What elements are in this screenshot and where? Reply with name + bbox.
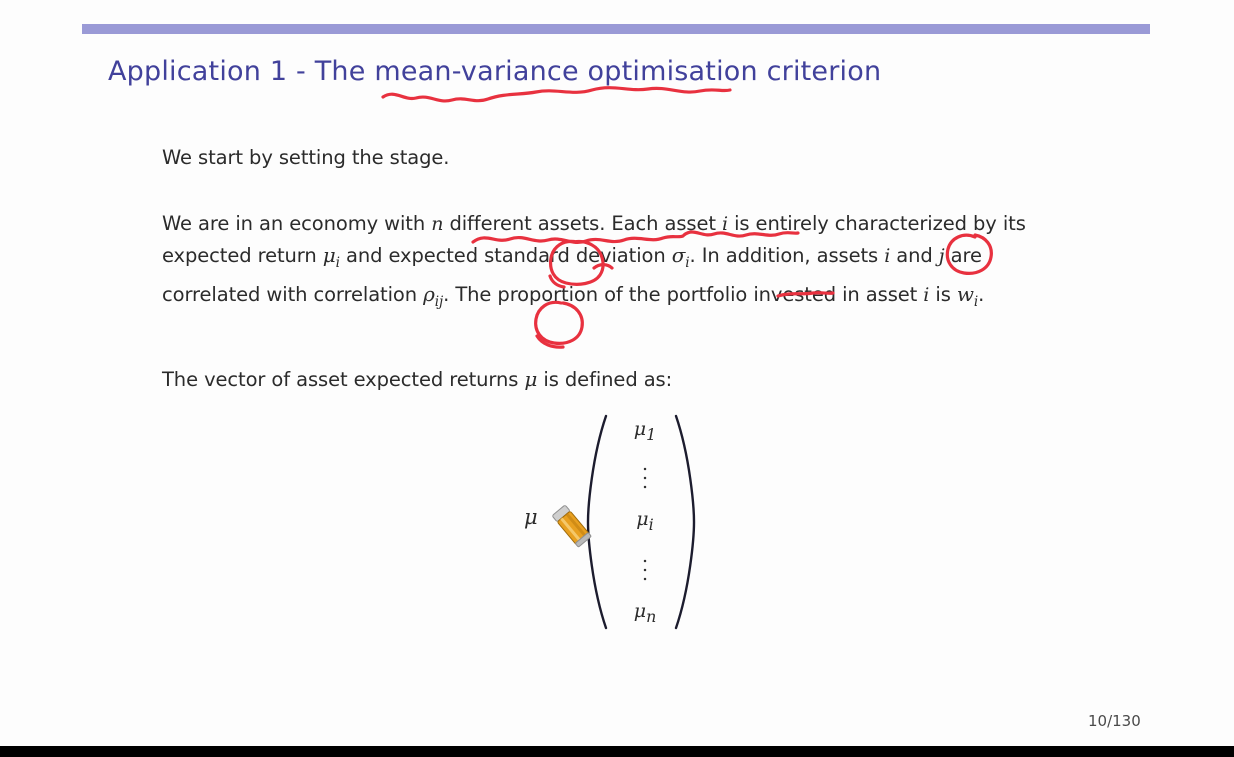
vector-vdots-lower: ... [590,552,700,579]
text-seg-1: We are in an economy with [162,212,431,235]
vector-entry-first-base: μ [634,418,646,440]
text-seg-4: and expected standard deviation [340,244,672,267]
text-seg-10: . [978,283,984,306]
math-sym-rho-ij-base: ρ [423,282,435,306]
math-sym-mu-i-base: μ [323,243,336,267]
math-sym-rho-ij-sub: ij [435,294,443,310]
text-seg-8: . The proportion of the portfolio invest… [443,283,923,306]
vector-entry-last-base: μ [634,600,646,622]
vector-entry-i: μi [590,508,700,534]
math-sym-rho-ij: ρij [423,282,443,306]
mu-vector-equation: μ μ1 ... μi ... μn [500,412,740,637]
math-sym-mu-i: μi [323,243,340,267]
slide-canvas: Application 1 - The mean-variance optimi… [0,0,1234,757]
pencil-cursor [543,498,599,554]
vector-entry-first: μ1 [590,418,700,444]
text-seg-9: is [929,283,957,306]
squiggle-under-title-phrase [383,88,730,101]
math-sym-sigma-i-base: σ [672,243,686,267]
text-seg-2: different assets. Each asset [443,212,722,235]
header-rule [82,24,1150,34]
paragraph-setup: We are in an economy with n different as… [162,208,1052,318]
bottom-band [0,746,1234,757]
text-seg-6: and [890,244,939,267]
slide-title: Application 1 - The mean-variance optimi… [108,56,881,87]
vector-entry-last: μn [590,600,700,626]
mu-vector-body: μ1 ... μi ... μn [590,412,700,632]
text-seg-5: . In addition, assets [690,244,885,267]
page-number: 10/130 [1088,712,1141,730]
paragraph-intro-text: We start by setting the stage. [162,146,449,169]
vector-entry-i-sub: i [649,515,654,534]
math-sym-sigma-i: σi [672,243,690,267]
math-sym-w-i-base: w [957,282,974,306]
paragraph-intro: We start by setting the stage. [162,142,1062,173]
paragraph-vector-intro: The vector of asset expected returns μ i… [162,364,1062,395]
vector-vdots-upper: ... [590,460,700,487]
math-sym-mu: μ [524,367,537,391]
vector-intro-seg-2: is defined as: [537,368,672,391]
circle-around-w-i-tail [537,336,563,347]
vector-entry-i-base: μ [636,508,648,530]
math-var-n: n [431,213,443,235]
vector-entry-last-sub: n [646,607,656,626]
vector-entry-first-sub: 1 [646,425,656,444]
math-sym-w-i: wi [957,282,978,306]
mu-vector-label: μ [524,505,538,529]
vector-intro-seg-1: The vector of asset expected returns [162,368,524,391]
